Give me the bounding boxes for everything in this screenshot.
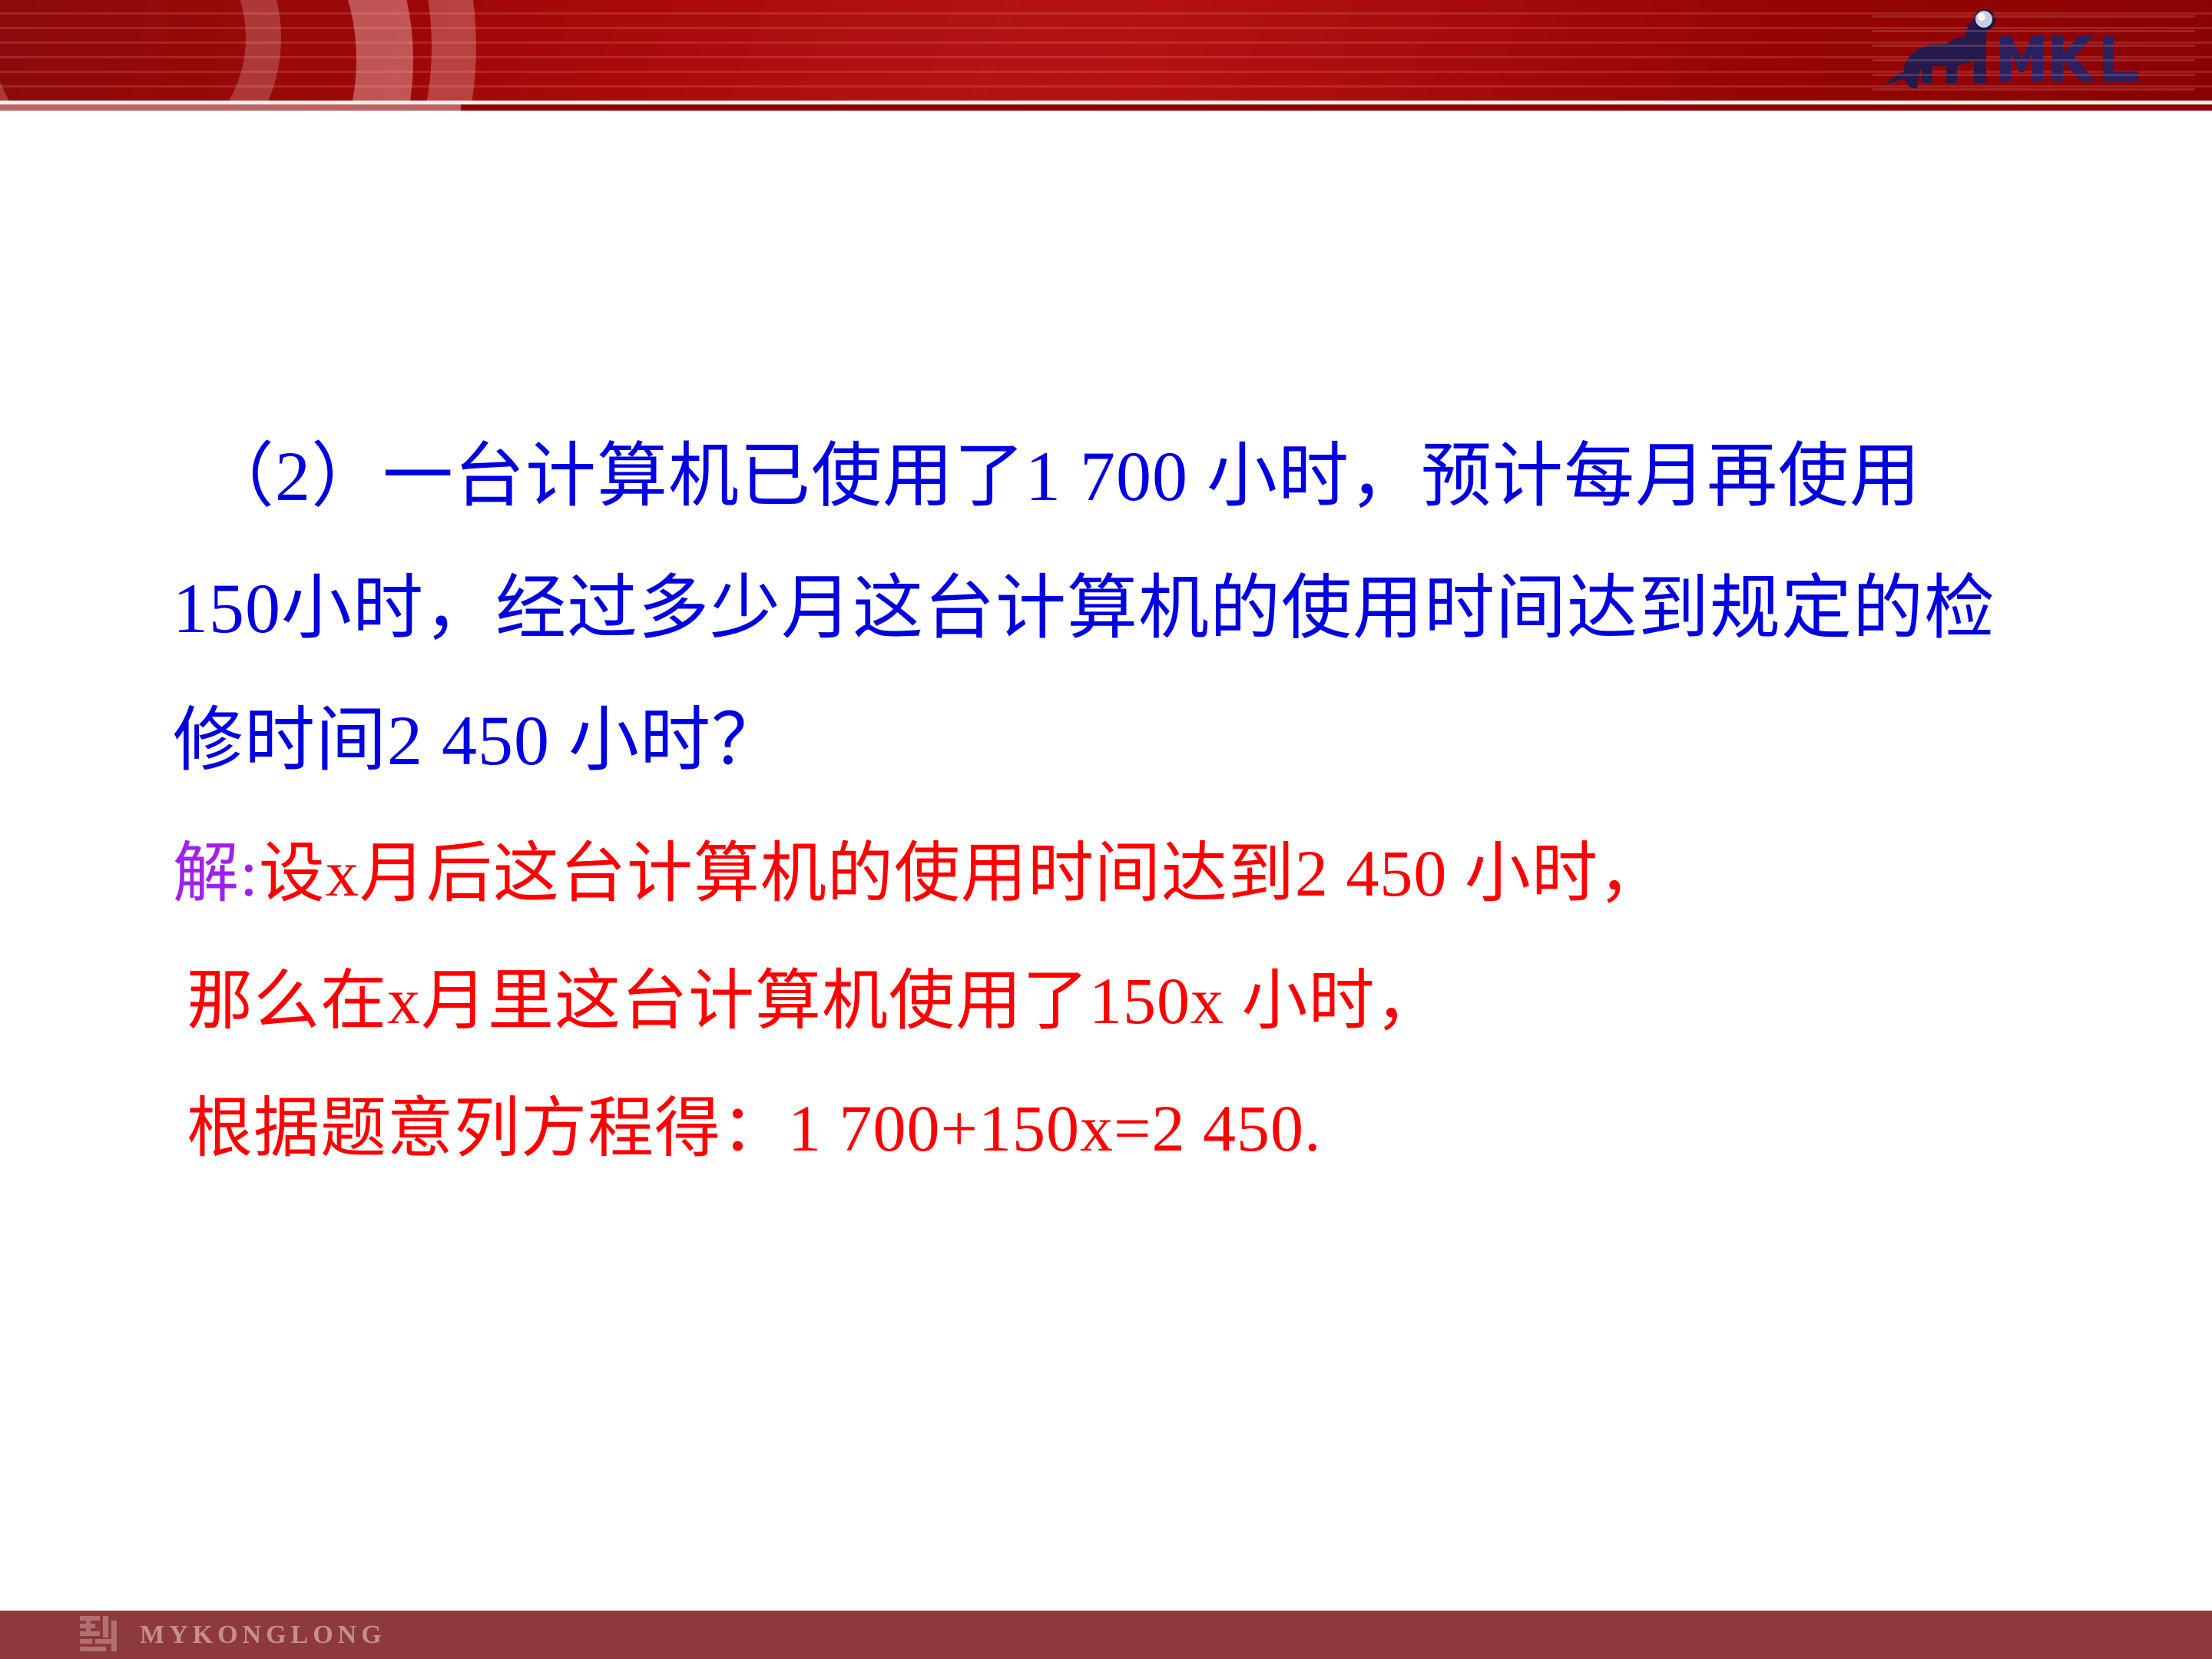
- answer-line-2: 那么在x月里这台计算机使用了150x 小时，: [173, 937, 2139, 1065]
- slide-footer-bar: MYKONGLONG: [0, 1611, 2212, 1659]
- slide-header-band: MKL: [0, 0, 2212, 111]
- question-line-2: 150小时，经过多少月这台计算机的使用时间达到规定的检: [173, 542, 2139, 674]
- footer-brand-group: MYKONGLONG: [77, 1611, 386, 1659]
- dinosaur-icon: [1885, 17, 1989, 89]
- slide-content-area: （2）一台计算机已使用了1 700 小时，预计每月再使用 150小时，经过多少月…: [0, 111, 2212, 1604]
- answer-line-3: 根据题意列方程得：1 700+150x=2 450.: [173, 1065, 2139, 1192]
- answer-line-1-text: 设x月后这台计算机的使用时间达到2 450 小时，: [259, 836, 1665, 910]
- question-line-3: 修时间2 450 小时？: [173, 674, 2139, 806]
- brand-wordmark: [2000, 35, 2138, 81]
- question-block: （2）一台计算机已使用了1 700 小时，预计每月再使用 150小时，经过多少月…: [173, 410, 2139, 806]
- logo-orb-highlight: [1978, 13, 1985, 21]
- answer-block: 解:设x月后这台计算机的使用时间达到2 450 小时， 那么在x月里这台计算机使…: [173, 810, 2139, 1192]
- answer-line-1: 解:设x月后这台计算机的使用时间达到2 450 小时，: [173, 810, 2139, 937]
- footer-brand-label: MYKONGLONG: [140, 1621, 386, 1650]
- solution-label: 解:: [173, 836, 259, 910]
- header-bottom-strip-left: [0, 104, 461, 111]
- brand-logo: MKL: [1873, 3, 2195, 100]
- question-line-1: （2）一台计算机已使用了1 700 小时，预计每月再使用: [173, 410, 2139, 542]
- seal-stamp-icon: [77, 1613, 120, 1657]
